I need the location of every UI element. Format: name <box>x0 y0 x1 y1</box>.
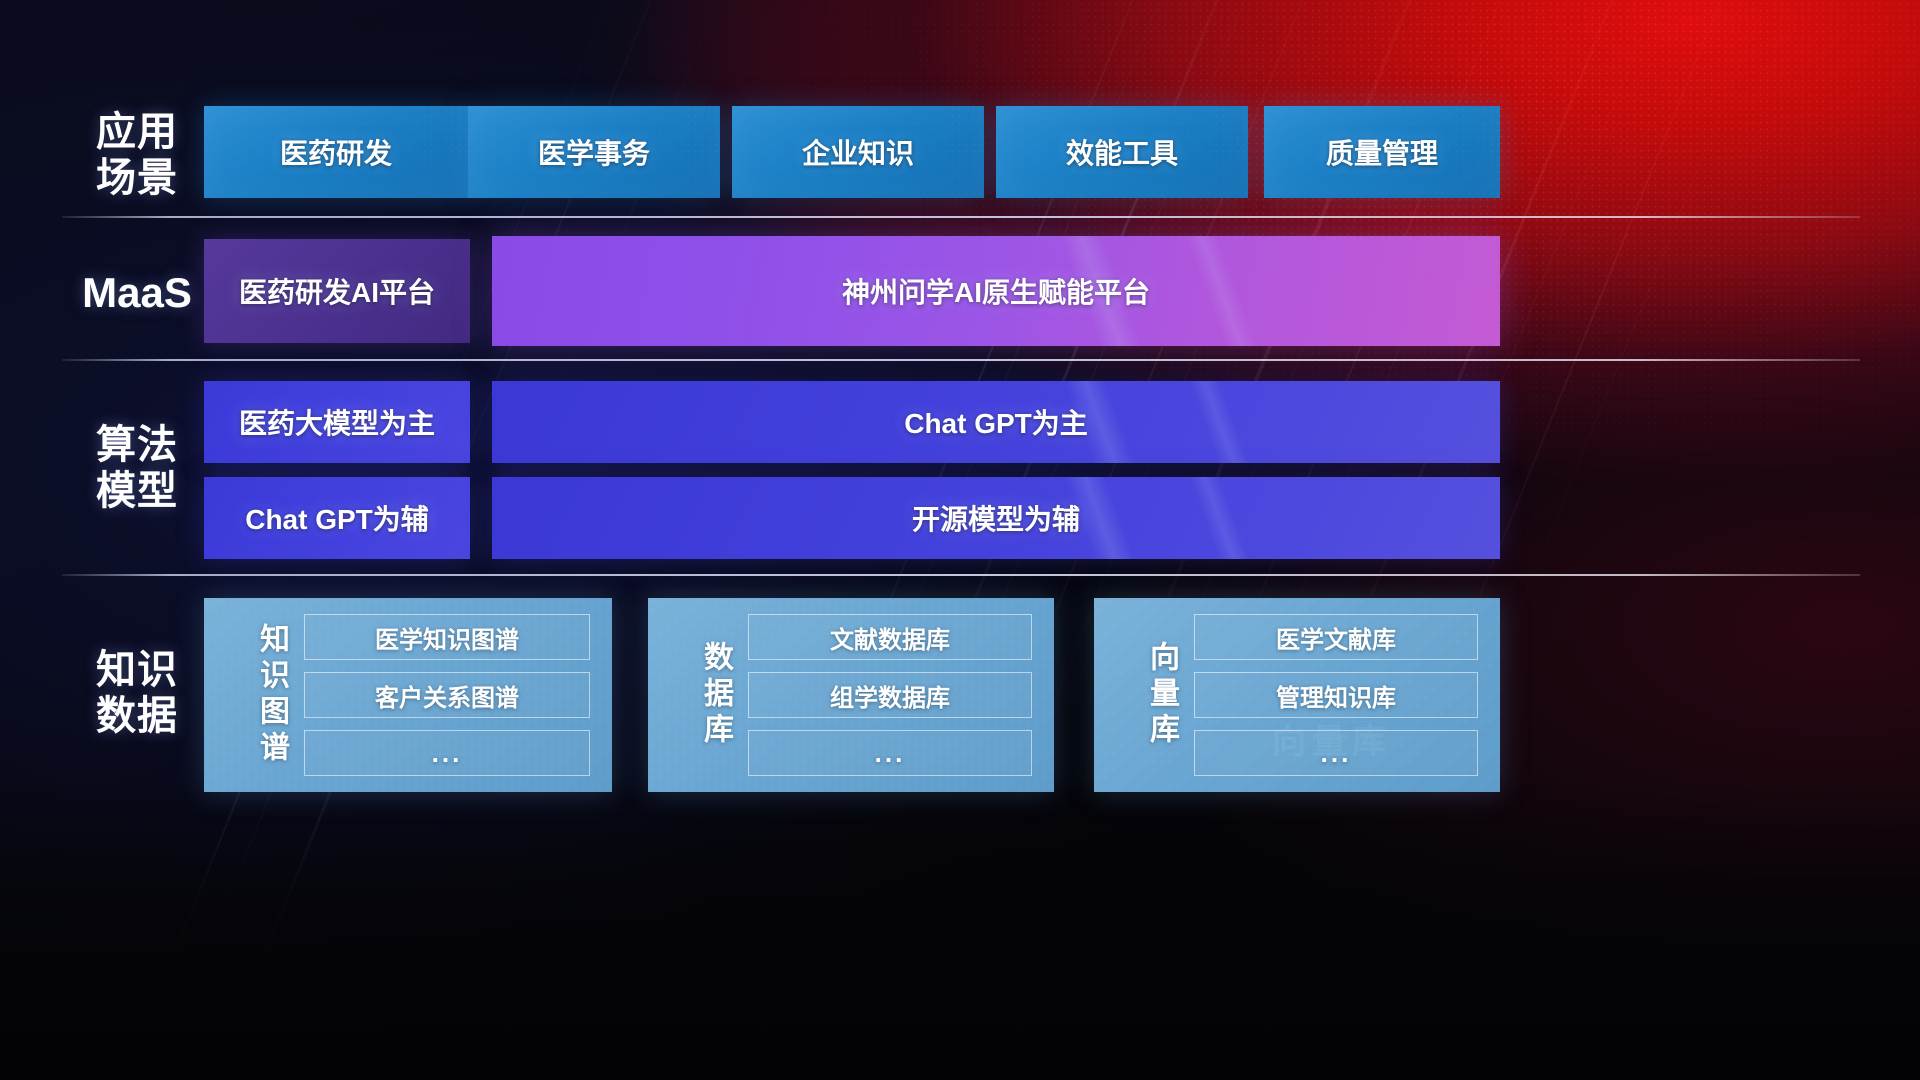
row-label-knowledge: 知识数据 <box>62 648 212 739</box>
divider-3 <box>62 574 1860 576</box>
knowledge-item-list-2: 医学文献库管理知识库... <box>1188 598 1500 792</box>
knowledge-item-2-2[interactable]: ... <box>1194 730 1478 776</box>
knowledge-item-1-0[interactable]: 文献数据库 <box>748 614 1032 660</box>
row-label-line: 知识 <box>62 648 212 694</box>
maas-left-card[interactable]: 医药研发AI平台 <box>204 239 470 343</box>
knowledge-panel-0: 知识图谱医学知识图谱客户关系图谱... <box>204 598 612 792</box>
architecture-diagram: 应用场景 医药研发医学事务企业知识效能工具质量管理 MaaS 医药研发AI平台 … <box>0 0 1920 1080</box>
knowledge-item-list-1: 文献数据库组学数据库... <box>742 598 1054 792</box>
knowledge-panel-2: 向量库医学文献库管理知识库... <box>1094 598 1500 792</box>
knowledge-item-list-0: 医学知识图谱客户关系图谱... <box>298 598 612 792</box>
row-label-line: 模型 <box>62 469 212 515</box>
algorithm-left-card-0[interactable]: 医药大模型为主 <box>204 381 470 463</box>
knowledge-item-0-1[interactable]: 客户关系图谱 <box>304 672 590 718</box>
row-label-line: 应用 <box>62 110 212 156</box>
application-card-1[interactable]: 医学事务 <box>468 106 720 198</box>
row-label-application: 应用场景 <box>62 110 212 201</box>
application-card-2[interactable]: 企业知识 <box>732 106 984 198</box>
knowledge-panel-title-2: 向量库 <box>1116 641 1178 749</box>
knowledge-panel-1: 数据库文献数据库组学数据库... <box>648 598 1054 792</box>
knowledge-item-0-0[interactable]: 医学知识图谱 <box>304 614 590 660</box>
algorithm-left-card-1[interactable]: Chat GPT为辅 <box>204 477 470 559</box>
algorithm-right-card-0[interactable]: Chat GPT为主 <box>492 381 1500 463</box>
knowledge-panel-title-1: 数据库 <box>670 641 732 749</box>
knowledge-item-2-1[interactable]: 管理知识库 <box>1194 672 1478 718</box>
row-label-line: 数据 <box>62 694 212 740</box>
knowledge-panel-title-0: 知识图谱 <box>226 623 288 767</box>
knowledge-item-0-2[interactable]: ... <box>304 730 590 776</box>
application-card-4[interactable]: 质量管理 <box>1264 106 1500 198</box>
row-label-line: 算法 <box>62 423 212 469</box>
knowledge-item-2-0[interactable]: 医学文献库 <box>1194 614 1478 660</box>
application-card-0[interactable]: 医药研发 <box>204 106 468 198</box>
knowledge-item-1-2[interactable]: ... <box>748 730 1032 776</box>
row-label-line: 场景 <box>62 156 212 202</box>
row-label-maas: MaaS <box>62 269 212 317</box>
row-label-algorithm: 算法模型 <box>62 423 212 514</box>
knowledge-item-1-1[interactable]: 组学数据库 <box>748 672 1032 718</box>
application-card-3[interactable]: 效能工具 <box>996 106 1248 198</box>
divider-2 <box>62 359 1860 361</box>
algorithm-right-card-1[interactable]: 开源模型为辅 <box>492 477 1500 559</box>
divider-1 <box>62 216 1860 218</box>
maas-platform-card[interactable]: 神州问学AI原生赋能平台 <box>492 236 1500 346</box>
